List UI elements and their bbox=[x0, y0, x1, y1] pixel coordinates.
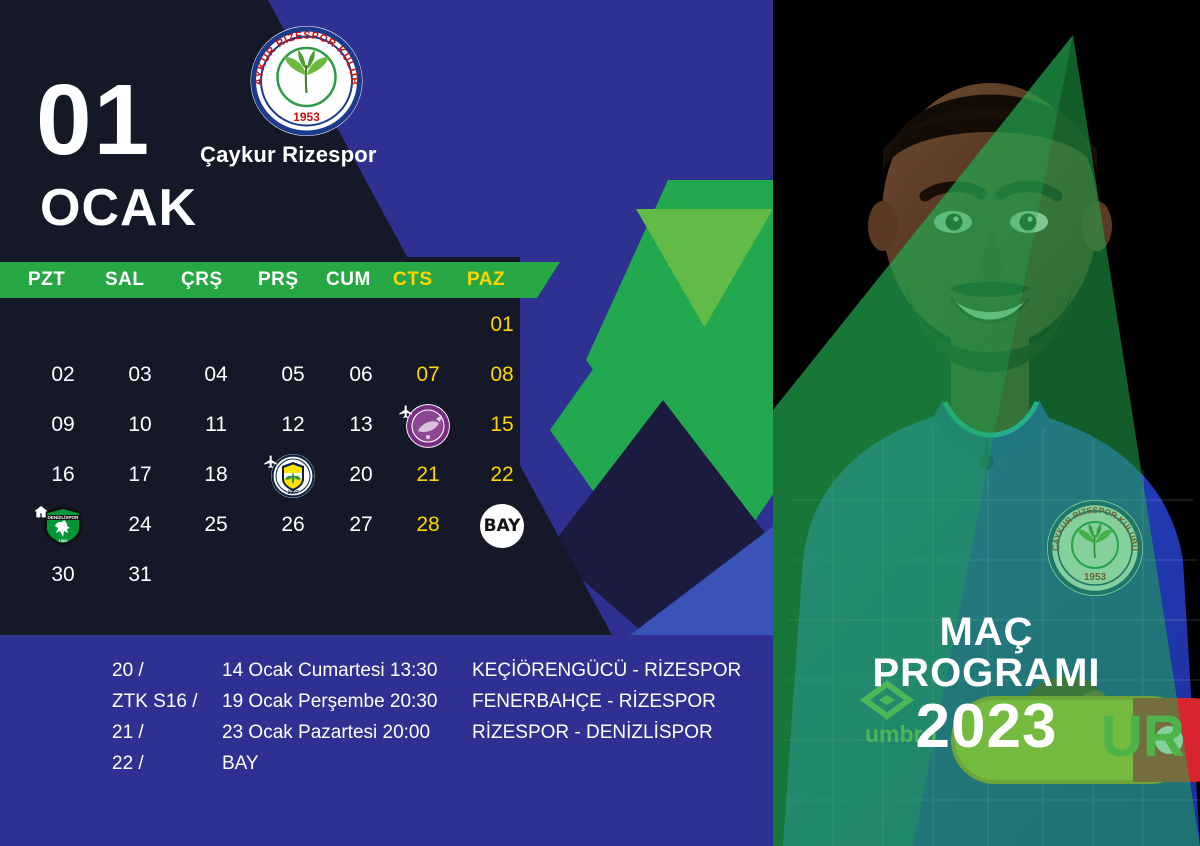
calendar-day-28[interactable]: 28 bbox=[393, 500, 463, 550]
calendar-day-02[interactable]: 02 bbox=[28, 350, 98, 400]
calendar-day-16[interactable]: 16 bbox=[28, 450, 98, 500]
calendar-day-27[interactable]: 27 bbox=[326, 500, 396, 550]
away-plane-icon bbox=[398, 404, 414, 420]
fixture-week: 21 / bbox=[112, 722, 217, 744]
fixture-match: RİZESPOR - DENİZLİSPOR bbox=[472, 722, 713, 744]
weekday-çrş: ÇRŞ bbox=[181, 262, 223, 298]
weekday-pzt: PZT bbox=[28, 262, 65, 298]
fixture-date: BAY bbox=[222, 753, 462, 775]
weekday-sal: SAL bbox=[105, 262, 145, 298]
poster-title-block: MAÇ PROGRAMI 2023 bbox=[773, 612, 1200, 759]
poster-title-year: 2023 bbox=[773, 694, 1200, 759]
fixture-row[interactable]: 20 /14 Ocak Cumartesi 13:30KEÇİÖRENGÜCÜ … bbox=[0, 660, 773, 691]
bye-week-badge: BAY bbox=[480, 504, 524, 548]
calendar-day-01[interactable]: 01 bbox=[467, 300, 537, 350]
fixture-week: 20 / bbox=[112, 660, 217, 682]
calendar-day-31[interactable]: 31 bbox=[105, 550, 175, 600]
calendar-cell-bay[interactable]: BAY bbox=[467, 500, 537, 552]
calendar-day-21[interactable]: 21 bbox=[393, 450, 463, 500]
calendar-day-07[interactable]: 07 bbox=[393, 350, 463, 400]
svg-text:1966: 1966 bbox=[59, 538, 69, 543]
away-plane-icon bbox=[263, 454, 279, 470]
calendar-day-30[interactable]: 30 bbox=[28, 550, 98, 600]
fixture-row[interactable]: 22 /BAY bbox=[0, 753, 773, 784]
svg-text:1953: 1953 bbox=[293, 110, 320, 124]
fixture-date: 19 Ocak Perşembe 20:30 bbox=[222, 691, 462, 713]
fixture-date: 23 Ocak Pazartesi 20:00 bbox=[222, 722, 462, 744]
weekday-paz: PAZ bbox=[467, 262, 505, 298]
calendar-day-12[interactable]: 12 bbox=[258, 400, 328, 450]
calendar-day-10[interactable]: 10 bbox=[105, 400, 175, 450]
poster-title-line2: PROGRAMI bbox=[773, 653, 1200, 694]
calendar-day-13[interactable]: 13 bbox=[326, 400, 396, 450]
weekday-bar: PZTSALÇRŞPRŞCUMCTSPAZ bbox=[0, 262, 560, 298]
svg-text:1907: 1907 bbox=[287, 490, 298, 496]
calendar-cell-match-kecioerengucu[interactable] bbox=[393, 400, 463, 452]
poster-title-line1: MAÇ bbox=[773, 612, 1200, 653]
calendar-day-09[interactable]: 09 bbox=[28, 400, 98, 450]
weekday-prş: PRŞ bbox=[258, 262, 299, 298]
weekday-cts: CTS bbox=[393, 262, 433, 298]
fixture-date: 14 Ocak Cumartesi 13:30 bbox=[222, 660, 462, 682]
fixture-week: 22 / bbox=[112, 753, 217, 775]
fixture-row[interactable]: 21 /23 Ocak Pazartesi 20:00RİZESPOR - DE… bbox=[0, 722, 773, 753]
fixture-match: KEÇİÖRENGÜCÜ - RİZESPOR bbox=[472, 660, 741, 682]
away-venue-icon bbox=[263, 454, 279, 470]
calendar-day-15[interactable]: 15 bbox=[467, 400, 537, 450]
calendar-cell-match-denizlispor[interactable]: DENİZLİSPOR1966 bbox=[28, 500, 98, 552]
calendar-day-05[interactable]: 05 bbox=[258, 350, 328, 400]
fixture-match: FENERBAHÇE - RİZESPOR bbox=[472, 691, 716, 713]
calendar-day-04[interactable]: 04 bbox=[181, 350, 251, 400]
calendar-day-08[interactable]: 08 bbox=[467, 350, 537, 400]
calendar-day-26[interactable]: 26 bbox=[258, 500, 328, 550]
calendar-day-20[interactable]: 20 bbox=[326, 450, 396, 500]
calendar-day-17[interactable]: 17 bbox=[105, 450, 175, 500]
calendar-day-06[interactable]: 06 bbox=[326, 350, 396, 400]
home-house-icon bbox=[33, 504, 49, 520]
player-photo-panel: ÇAYKUR RİZESPOR KULÜBÜ 1953 umbro UR bbox=[773, 0, 1200, 846]
poster-header: 01 OCAK bbox=[0, 0, 773, 257]
svg-text:DENİZLİSPOR: DENİZLİSPOR bbox=[48, 514, 80, 520]
home-venue-icon bbox=[33, 504, 49, 520]
calendar-day-11[interactable]: 11 bbox=[181, 400, 251, 450]
calendar-day-22[interactable]: 22 bbox=[467, 450, 537, 500]
fixture-week: ZTK S16 / bbox=[112, 691, 217, 713]
weekday-cum: CUM bbox=[326, 262, 371, 298]
calendar-grid: 0102030405060708091011121315161718190720… bbox=[0, 300, 560, 620]
calendar-day-18[interactable]: 18 bbox=[181, 450, 251, 500]
calendar-day-03[interactable]: 03 bbox=[105, 350, 175, 400]
calendar-day-25[interactable]: 25 bbox=[181, 500, 251, 550]
away-venue-icon bbox=[398, 404, 414, 420]
month-number: 01 bbox=[36, 70, 151, 170]
club-name: Çaykur Rizespor bbox=[200, 142, 377, 168]
month-name: OCAK bbox=[40, 182, 197, 234]
fixture-list: 20 /14 Ocak Cumartesi 13:30KEÇİÖRENGÜCÜ … bbox=[0, 660, 773, 784]
match-schedule-poster: 01 OCAK bbox=[0, 0, 1200, 846]
calendar-day-24[interactable]: 24 bbox=[105, 500, 175, 550]
caykur-rizespor-badge-icon: ÇAYKUR RİZESPOR KULÜBÜ 1953 bbox=[249, 25, 364, 137]
calendar-cell-match-fenerbahce[interactable]: 1907 bbox=[258, 450, 328, 502]
fixture-row[interactable]: ZTK S16 /19 Ocak Perşembe 20:30FENERBAHÇ… bbox=[0, 691, 773, 722]
